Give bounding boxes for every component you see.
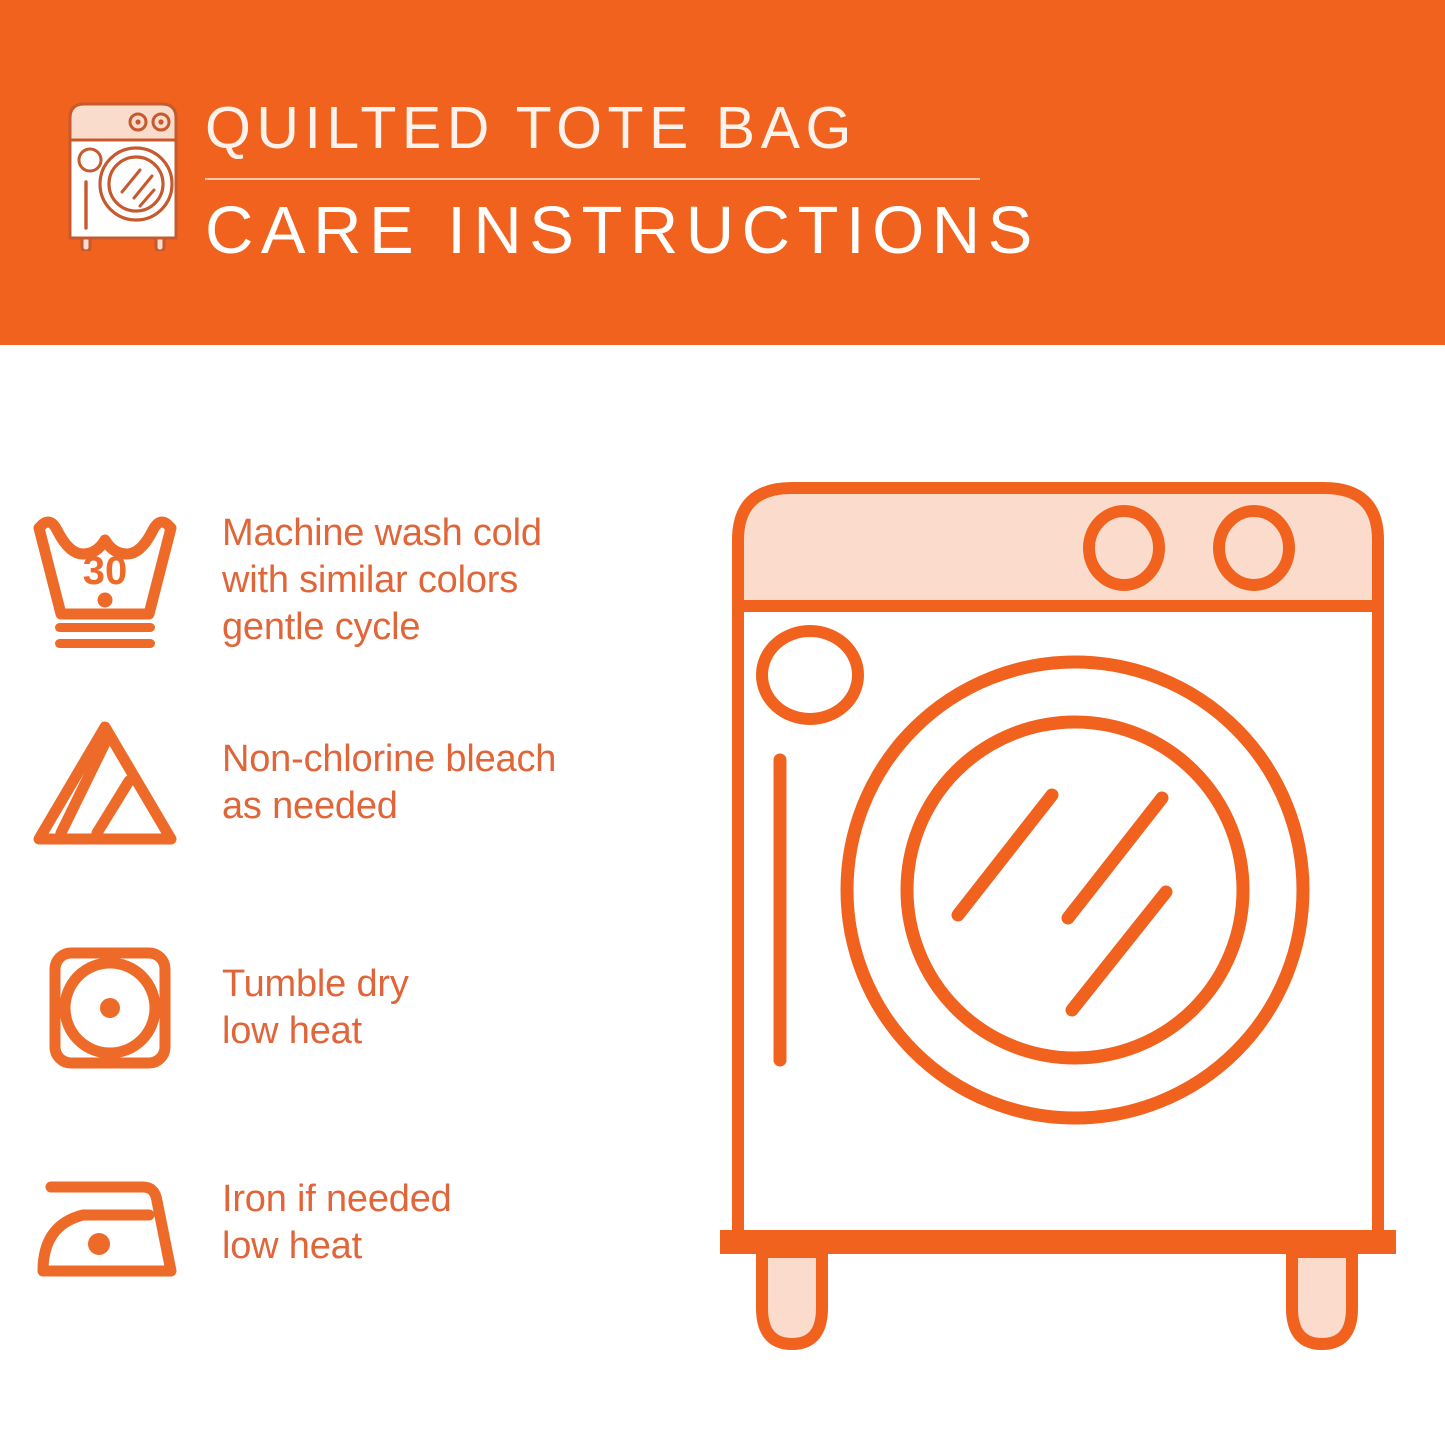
title-divider — [205, 178, 980, 180]
non-chlorine-bleach-triangle-icon — [0, 713, 210, 853]
care-label: Non-chlorine bleach as needed — [210, 736, 556, 830]
header-banner: QUILTED TOTE BAG CARE INSTRUCTIONS — [0, 0, 1445, 345]
care-row: Non-chlorine bleach as needed — [0, 695, 700, 870]
care-row: Iron if needed low heat — [0, 1135, 700, 1310]
washing-machine-illustration: Front-loading washing machine with contr… — [700, 440, 1445, 1400]
page-subtitle: CARE INSTRUCTIONS — [205, 192, 995, 270]
care-label: Iron if needed low heat — [210, 1176, 452, 1270]
care-instruction-list: 30 Machine wash cold with similar colors… — [0, 345, 700, 1445]
care-row: Tumble dry low heat — [0, 920, 700, 1095]
care-row: 30 Machine wash cold with similar colors… — [0, 485, 700, 675]
washing-machine-icon — [62, 96, 184, 251]
tumble-dry-low-icon — [0, 938, 210, 1078]
wash-temperature-value: 30 — [83, 549, 128, 593]
care-label: Machine wash cold with similar colors ge… — [210, 510, 542, 651]
header-text-block: QUILTED TOTE BAG CARE INSTRUCTIONS — [205, 92, 995, 270]
page-title: QUILTED TOTE BAG — [205, 92, 995, 164]
care-label: Tumble dry low heat — [210, 961, 409, 1055]
iron-low-heat-icon — [0, 1153, 210, 1293]
care-instructions-page: QUILTED TOTE BAG CARE INSTRUCTIONS 30 Ma… — [0, 0, 1445, 1445]
wash-tub-30-icon: 30 — [0, 510, 210, 650]
